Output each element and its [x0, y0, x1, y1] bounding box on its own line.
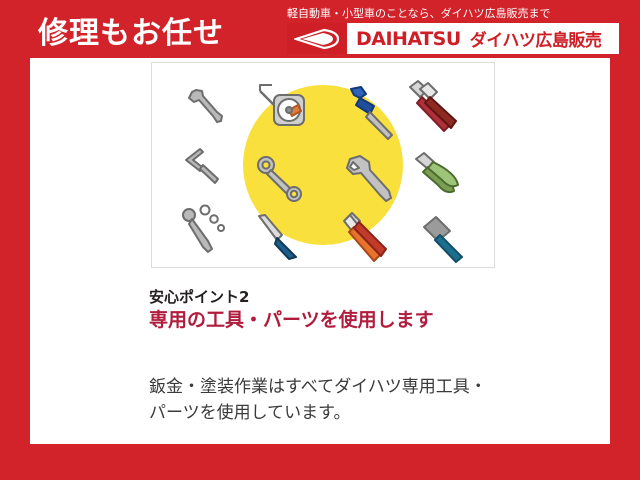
brand-block: 軽自動車・小型車のことなら、ダイハツ広島販売まで DAIHATSU ダイハツ広島…	[287, 5, 619, 54]
hex-allen-key-icon	[184, 147, 222, 187]
point-label: 安心ポイント2	[149, 286, 249, 307]
brand-logo-japanese: ダイハツ広島販売	[470, 26, 602, 51]
screwdriver-icon	[256, 213, 304, 261]
point-body: 鈑金・塗装作業はすべてダイハツ専用工具・パーツを使用しています。	[149, 374, 501, 427]
slide-header: 修理もお任せ 軽自動車・小型車のことなら、ダイハツ広島販売まで DAIHATSU…	[0, 0, 640, 58]
daihatsu-d-emblem-icon	[287, 23, 347, 54]
open-end-wrench-icon	[186, 88, 226, 130]
pipe-wrench-icon	[348, 85, 400, 141]
point-title: 専用の工具・パーツを使用します	[149, 310, 495, 331]
brand-logo-bar: DAIHATSU ダイハツ広島販売	[287, 23, 619, 54]
socket-ratchet-icon	[180, 205, 232, 255]
orange-pliers-icon	[340, 211, 396, 265]
page-title: 修理もお任せ	[38, 8, 224, 52]
brand-logo-latin: DAIHATSU	[356, 28, 461, 50]
green-pliers-icon	[414, 151, 466, 201]
content-card: 安心ポイント2 専用の工具・パーツを使用します 鈑金・塗装作業はすべてダイハツ専…	[30, 58, 610, 444]
red-pliers-icon	[408, 79, 466, 135]
brand-tagline: 軽自動車・小型車のことなら、ダイハツ広島販売まで	[287, 5, 550, 21]
tape-measure-icon	[256, 83, 314, 135]
mallet-hammer-icon	[420, 215, 474, 265]
tools-illustration	[151, 62, 495, 268]
ring-spanner-icon	[256, 155, 306, 207]
slide-root: 修理もお任せ 軽自動車・小型車のことなら、ダイハツ広島販売まで DAIHATSU…	[0, 0, 640, 480]
adjustable-wrench-icon	[344, 153, 396, 207]
